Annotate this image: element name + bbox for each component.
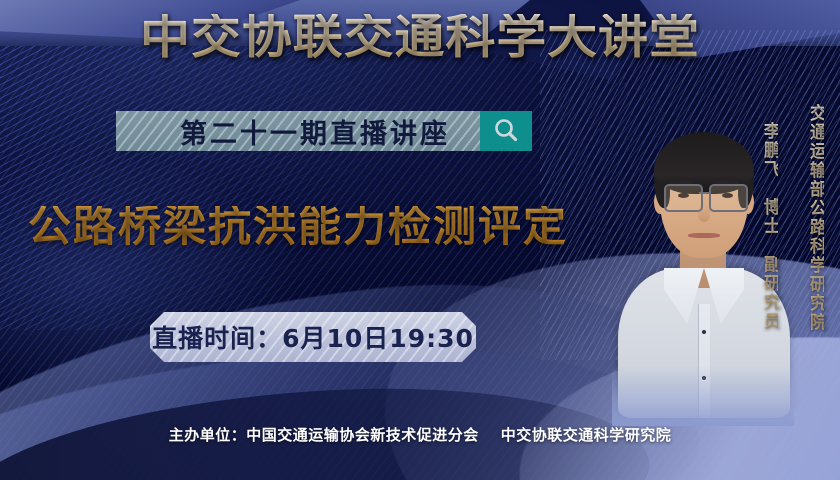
portrait-lens-right bbox=[709, 184, 748, 212]
live-time-badge: 直播时间：6月10日19:30 bbox=[150, 312, 476, 362]
portrait-mouth bbox=[688, 233, 720, 238]
speaker-name-title: 李鹏飞 博士 副研究员 bbox=[760, 122, 778, 331]
speaker-organization: 交通运输部公路科学研究院 bbox=[806, 104, 824, 332]
lecture-title: 公路桥梁抗洪能力检测评定 bbox=[28, 206, 568, 249]
portrait-nose bbox=[698, 206, 710, 222]
portrait-shirt-button bbox=[702, 376, 706, 380]
portrait-glasses-bridge bbox=[699, 192, 709, 194]
portrait-shirt-placket bbox=[698, 304, 710, 418]
footer-host: 主办单位：中国交通运输协会新技术促进分会 bbox=[169, 426, 479, 444]
footer-cohost: 中交协联交通科学研究院 bbox=[501, 426, 672, 444]
search-icon bbox=[491, 116, 521, 146]
live-lecture-poster: 中交协联交通科学大讲堂 中交协联交通科学大讲堂 第二十一期直播讲座 公路桥梁抗洪… bbox=[0, 0, 840, 480]
series-title: 中交协联交通科学大讲堂 bbox=[0, 14, 840, 61]
episode-bar: 第二十一期直播讲座 bbox=[116, 111, 532, 151]
search-button[interactable] bbox=[480, 111, 532, 151]
portrait-shirt-button bbox=[702, 330, 706, 334]
live-time-text: 直播时间：6月10日19:30 bbox=[152, 319, 474, 355]
footer-organizers: 主办单位：中国交通运输协会新技术促进分会中交协联交通科学研究院 bbox=[0, 424, 840, 445]
episode-label: 第二十一期直播讲座 bbox=[116, 111, 480, 151]
